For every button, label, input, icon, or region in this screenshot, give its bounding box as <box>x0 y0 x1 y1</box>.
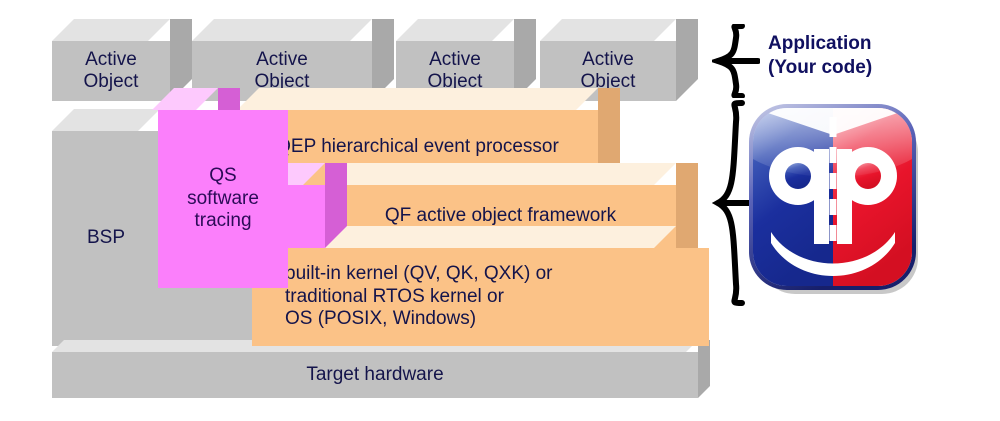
block-side-face <box>170 19 192 101</box>
qf-label: QF active object framework <box>325 185 676 248</box>
active-object-label: Active Object <box>396 41 514 101</box>
active-object-block-1: Active Object <box>52 41 170 101</box>
architecture-diagram: Active Object Active Object Active Objec… <box>0 0 1000 421</box>
block-side-face <box>598 88 620 185</box>
block-top-face <box>540 19 676 41</box>
kernel-label: built-in kernel (QV, QK, QXK) or traditi… <box>252 248 709 346</box>
active-object-block-4: Active Object <box>540 41 676 101</box>
logo-gloss <box>753 108 912 177</box>
active-object-label: Active Object <box>540 41 676 101</box>
target-hardware-block: Target hardware <box>52 352 698 398</box>
target-hardware-label: Target hardware <box>52 352 698 398</box>
qs-tracing-label: QS software tracing <box>158 110 288 288</box>
block-side-face <box>698 340 710 398</box>
block-side-face <box>676 163 698 248</box>
active-object-label: Active Object <box>52 41 170 101</box>
active-object-block-2: Active Object <box>192 41 372 101</box>
qp-logo <box>740 97 925 302</box>
qf-block: QF active object framework <box>325 185 676 248</box>
active-object-block-3: Active Object <box>396 41 514 101</box>
qep-label: QEP hierarchical event processor <box>237 110 598 185</box>
application-label: Application (Your code) <box>768 32 872 80</box>
block-side-face <box>514 19 536 101</box>
block-top-face <box>192 19 372 41</box>
block-top-face <box>52 109 160 131</box>
block-side-face <box>372 19 394 101</box>
application-brace <box>712 24 760 98</box>
qs-tracing-block: QS software tracing <box>152 110 218 288</box>
qep-block: QEP hierarchical event processor <box>237 110 598 185</box>
block-side-face <box>676 19 698 101</box>
block-top-face <box>52 19 170 41</box>
active-object-label: Active Object <box>192 41 372 101</box>
block-top-face <box>396 19 514 41</box>
kernel-block: built-in kernel (QV, QK, QXK) or traditi… <box>252 248 676 346</box>
